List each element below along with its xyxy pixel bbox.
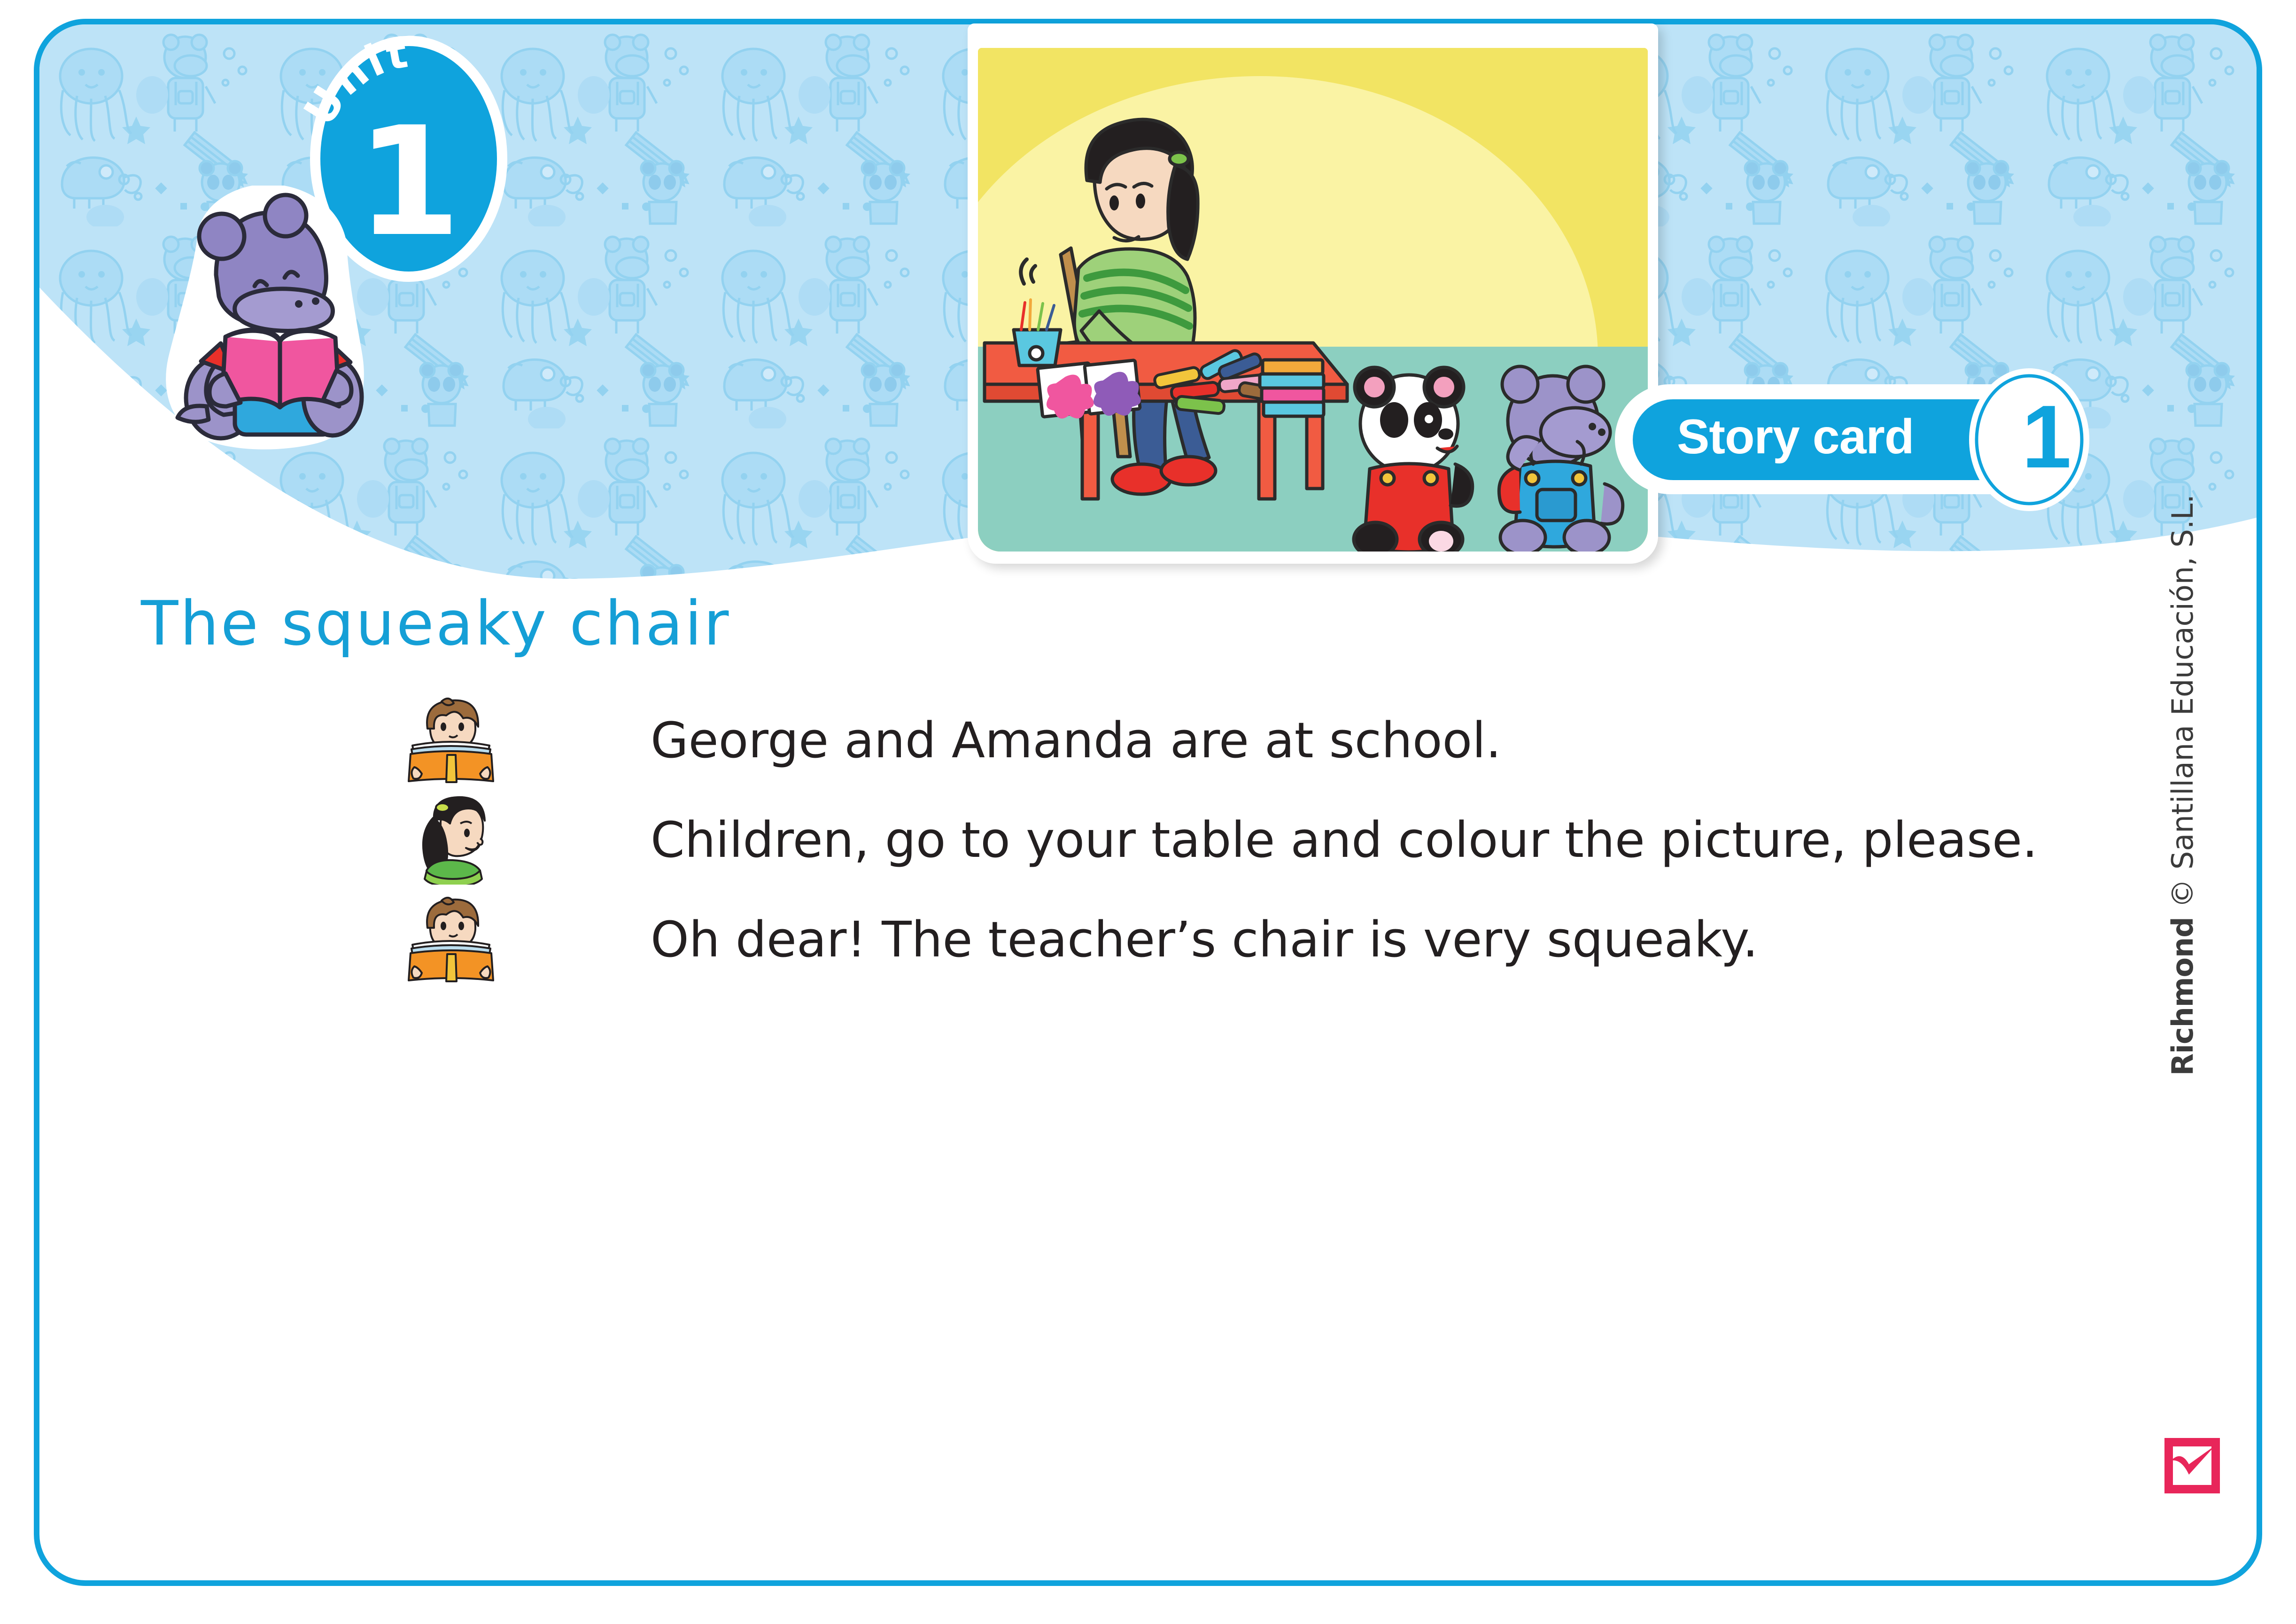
teacher-woman-icon	[404, 795, 498, 885]
narrator-icon-svg	[404, 895, 498, 984]
story-card-page: Unit 1	[0, 0, 2296, 1624]
hippo-mascot-svg	[150, 186, 376, 453]
dialogue-row: Children, go to your table and colour th…	[404, 790, 2048, 890]
dialogue-text: Oh dear! The teacher’s chair is very squ…	[651, 915, 1758, 964]
brand-name: Richmond	[2165, 917, 2200, 1076]
teacher-icon-svg	[404, 795, 498, 885]
copyright-notice: Richmond © Santillana Educación, S.L.	[2165, 494, 2200, 1076]
dialogue-row: George and Amanda are at school.	[404, 691, 2048, 790]
hippo-mascot-icon	[150, 186, 376, 453]
narrator-child-reading-icon	[404, 696, 498, 785]
dialogue-text: Children, go to your table and colour th…	[651, 816, 2038, 864]
narrator-icon-svg	[404, 696, 498, 785]
dialogue-list: George and Amanda are at school.	[404, 691, 2048, 989]
classroom-scene-svg	[978, 48, 1648, 552]
story-card-label: Story card	[1677, 397, 1968, 477]
narrator-child-reading-icon	[404, 895, 498, 984]
illustration-frame	[968, 23, 1658, 564]
story-card-number: 1	[1988, 362, 2105, 512]
dialogue-row: Oh dear! The teacher’s chair is very squ…	[404, 890, 2048, 989]
richmond-logo-svg	[2162, 1435, 2223, 1496]
dialogue-text: George and Amanda are at school.	[651, 716, 1501, 765]
illustration-image	[978, 48, 1648, 552]
richmond-logo-icon	[2162, 1435, 2223, 1496]
story-title: The squeaky chair	[141, 593, 730, 654]
copyright-text: © Santillana Educación, S.L.	[2165, 494, 2200, 908]
